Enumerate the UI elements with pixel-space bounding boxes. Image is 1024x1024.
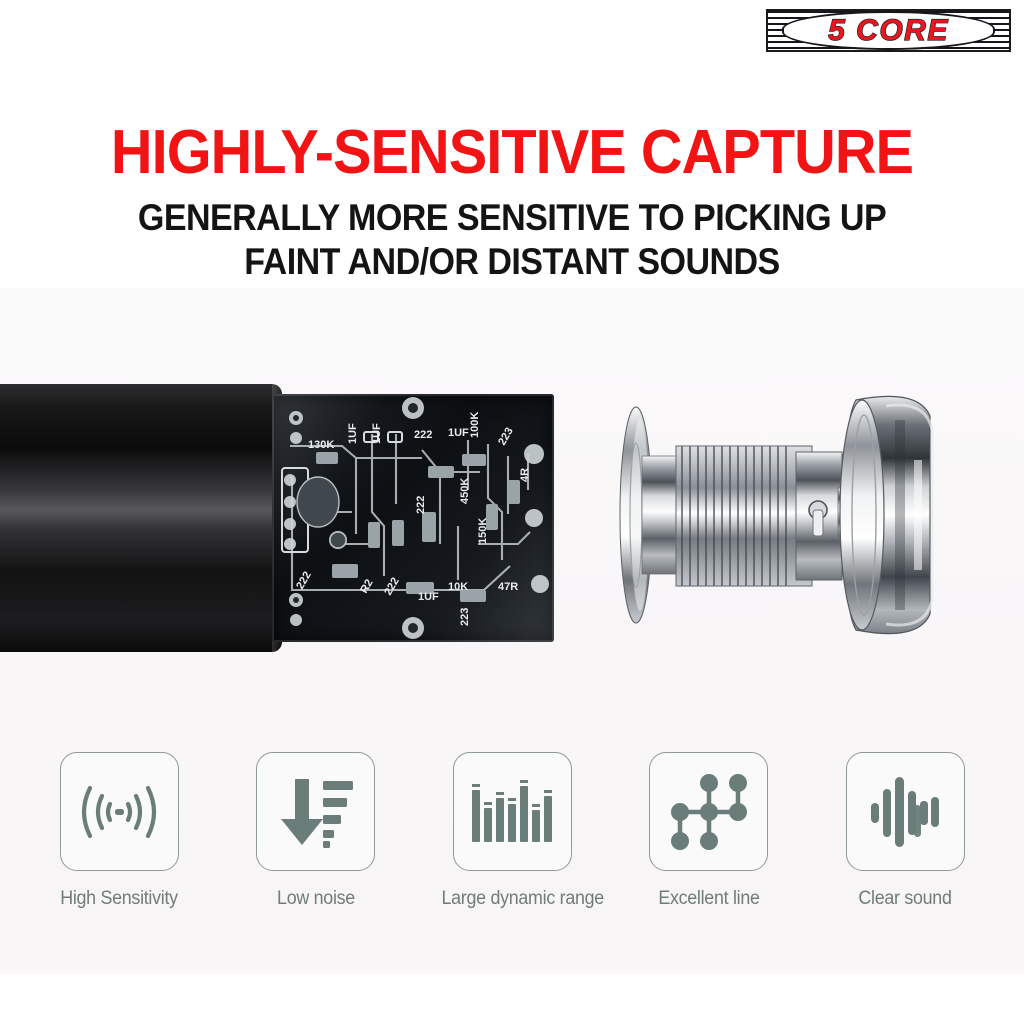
feature-item-excellent-line[interactable]: Excellent line <box>634 752 784 910</box>
microphone-capsule <box>600 360 960 670</box>
page-title: HIGHLY-SENSITIVE CAPTURE <box>36 122 988 184</box>
arrow-down-sort-icon <box>276 775 356 849</box>
network-nodes-icon <box>670 773 748 851</box>
sound-wave-icon <box>76 782 162 842</box>
feature-icon-box <box>256 752 375 871</box>
feature-item-high-sensitivity[interactable]: High Sensitivity <box>44 752 194 910</box>
feature-icon-box <box>649 752 768 871</box>
circuit-board: 130K 1UF 1UF 222 1UF 100K 223 4R 450K 15… <box>272 394 554 642</box>
microphone-body <box>0 384 282 652</box>
feature-label: Low noise <box>245 888 386 910</box>
product-feature-page: 5 CORE HIGHLY-SENSITIVE CAPTURE GENERALL… <box>0 0 1024 1024</box>
subtitle-line-2: FAINT AND/OR DISTANT SOUNDS <box>41 240 983 284</box>
feature-label: Excellent line <box>638 888 779 910</box>
subtitle-line-1: GENERALLY MORE SENSITIVE TO PICKING UP <box>41 196 983 240</box>
feature-label: Large dynamic range <box>442 888 583 910</box>
logo-text: 5 CORE <box>768 16 1009 46</box>
board-edge <box>272 394 554 642</box>
feature-item-large-dynamic-range[interactable]: Large dynamic range <box>437 752 587 910</box>
feature-icon-box <box>846 752 965 871</box>
equalizer-bars-icon <box>470 778 554 846</box>
feature-icon-box <box>453 752 572 871</box>
feature-item-low-noise[interactable]: Low noise <box>241 752 391 910</box>
audio-waveform-icon <box>869 775 941 849</box>
feature-item-clear-sound[interactable]: Clear sound <box>830 752 980 910</box>
five-core-logo: 5 CORE <box>766 9 1011 52</box>
product-image: 130K 1UF 1UF 222 1UF 100K 223 4R 450K 15… <box>0 330 1024 730</box>
page-subtitle: GENERALLY MORE SENSITIVE TO PICKING UP F… <box>41 196 983 284</box>
feature-label: Clear sound <box>835 888 976 910</box>
feature-label: High Sensitivity <box>49 888 190 910</box>
feature-list: High Sensitivity Low noise <box>0 752 1024 910</box>
feature-icon-box <box>60 752 179 871</box>
